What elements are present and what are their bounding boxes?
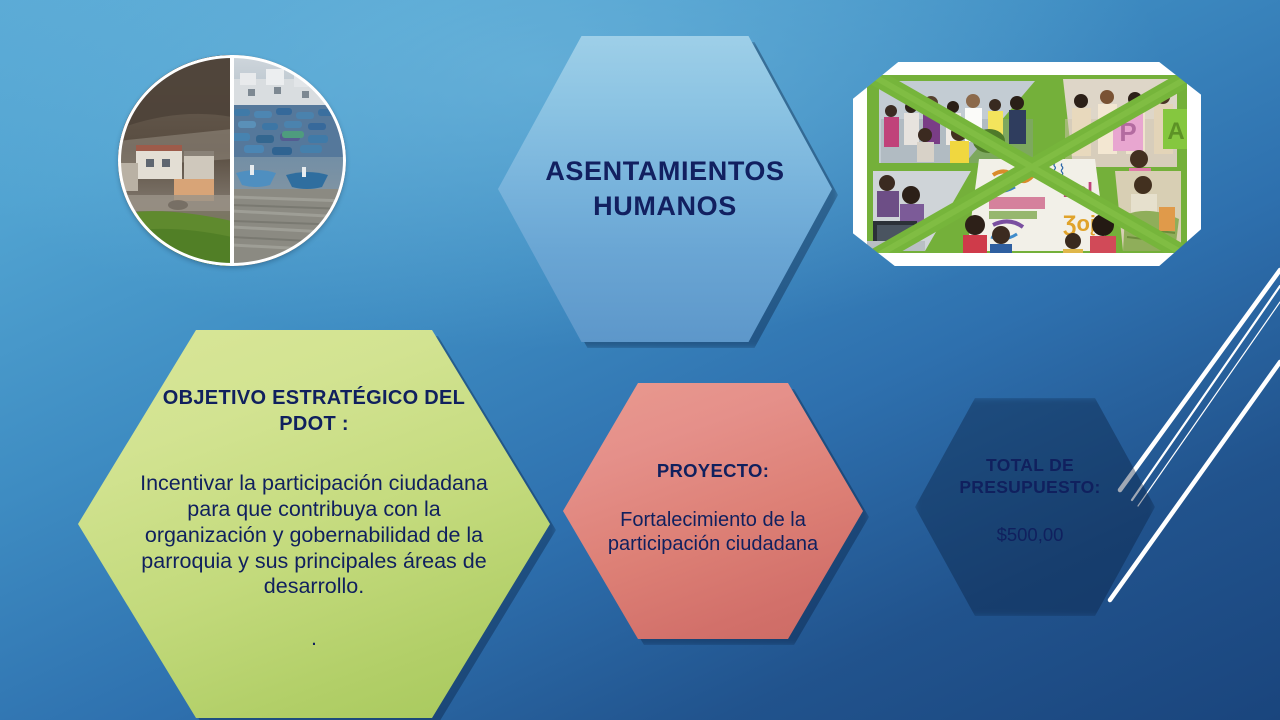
photo-half-settlement bbox=[118, 55, 232, 266]
objective-hexagon-body: Incentivar la participación ciudadana pa… bbox=[140, 471, 488, 600]
objective-hexagon-heading: OBJETIVO ESTRATÉGICO DEL PDOT : bbox=[140, 386, 488, 437]
svg-text:Ʒoį: Ʒoį bbox=[1063, 211, 1096, 236]
framed-collage-photo: P A bbox=[853, 62, 1201, 266]
budget-hexagon-amount: $500,00 bbox=[997, 524, 1064, 546]
photo-half-harbour bbox=[232, 55, 346, 266]
objective-hexagon-trailing: . bbox=[311, 626, 317, 652]
project-hexagon-heading: PROYECTO: bbox=[657, 460, 769, 482]
budget-hexagon-heading: TOTAL DE PRESUPUESTO: bbox=[944, 454, 1116, 498]
split-circle-photo bbox=[118, 55, 346, 266]
title-hexagon-label: ASENTAMIENTOS HUMANOS bbox=[498, 154, 832, 224]
project-hexagon-body: Fortalecimiento de la participación ciud… bbox=[605, 508, 821, 557]
photo-split-divider bbox=[230, 55, 234, 266]
collage-inner: P A bbox=[867, 75, 1187, 253]
svg-text:A: A bbox=[1167, 118, 1184, 145]
slide-canvas: P A bbox=[0, 0, 1280, 720]
